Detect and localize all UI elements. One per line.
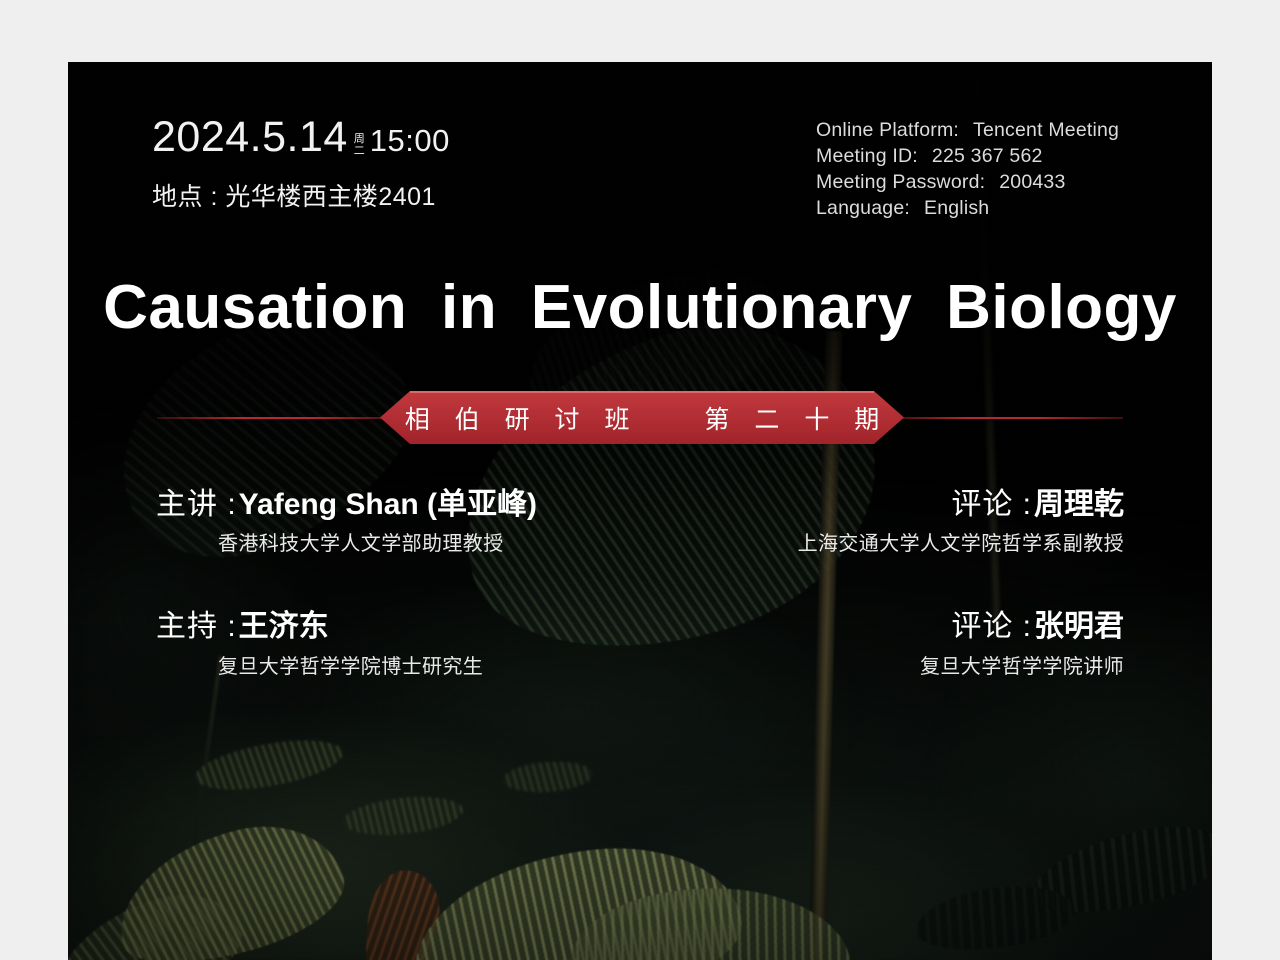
participant-role: 主持 : bbox=[156, 610, 237, 643]
participant-name: 周理乾 bbox=[1034, 488, 1124, 521]
seminar-series-ribbon: 相 伯 研 讨 班 第 二 十 期 bbox=[68, 391, 1212, 447]
participant-affiliation: 复旦大学哲学学院讲师 bbox=[920, 650, 1124, 679]
participant-affiliation: 上海交通大学人文学院哲学系副教授 bbox=[798, 527, 1124, 556]
event-weekday: 周 二 bbox=[354, 134, 365, 157]
participant-heading: 评论 :周理乾 bbox=[798, 487, 1124, 522]
meeting-language-row: Language:English bbox=[816, 196, 1119, 222]
meeting-language-value: English bbox=[924, 197, 989, 219]
meeting-id-row: Meeting ID:225 367 562 bbox=[816, 144, 1119, 170]
participant-role: 评论 : bbox=[951, 488, 1032, 521]
participant-role: 评论 : bbox=[951, 610, 1032, 643]
participant-discussant-2: 评论 :张明君 复旦大学哲学学院讲师 bbox=[920, 609, 1124, 678]
event-date: 2024.5.14 bbox=[152, 116, 348, 159]
participant-heading: 评论 :张明君 bbox=[920, 609, 1124, 644]
participants-row: 主持 :王济东 复旦大学哲学学院博士研究生 评论 :张明君 复旦大学哲学学院讲师 bbox=[68, 609, 1212, 678]
meeting-password-value: 200433 bbox=[999, 171, 1065, 193]
meeting-id-label: Meeting ID: bbox=[816, 145, 918, 167]
weekday-char-top: 周 bbox=[354, 134, 365, 146]
date-line: 2024.5.14 周 二 15:00 bbox=[152, 116, 450, 166]
participant-role: 主讲 : bbox=[156, 488, 237, 521]
seminar-series-name: 相 伯 研 讨 班 bbox=[405, 406, 639, 434]
participant-discussant-1: 评论 :周理乾 上海交通大学人文学院哲学系副教授 bbox=[798, 487, 1124, 556]
participants-section: 主讲 :Yafeng Shan (单亚峰) 香港科技大学人文学部助理教授 评论 … bbox=[68, 487, 1212, 679]
ribbon-rule-left bbox=[157, 417, 397, 419]
meeting-language-label: Language: bbox=[816, 197, 910, 219]
poster-title: Causation in Evolutionary Biology bbox=[68, 277, 1212, 339]
participant-heading: 主讲 :Yafeng Shan (单亚峰) bbox=[156, 487, 537, 522]
participant-name: 王济东 bbox=[239, 610, 329, 643]
participant-host: 主持 :王济东 复旦大学哲学学院博士研究生 bbox=[156, 609, 483, 678]
datetime-block: 2024.5.14 周 二 15:00 地点 : 光华楼西主楼2401 bbox=[152, 116, 450, 213]
meeting-id-value: 225 367 562 bbox=[932, 145, 1043, 167]
participant-name: 张明君 bbox=[1034, 610, 1124, 643]
participant-affiliation: 复旦大学哲学学院博士研究生 bbox=[218, 650, 483, 679]
event-poster: 2024.5.14 周 二 15:00 地点 : 光华楼西主楼2401 Onli… bbox=[68, 62, 1212, 960]
participant-affiliation: 香港科技大学人文学部助理教授 bbox=[218, 527, 537, 556]
participant-speaker: 主讲 :Yafeng Shan (单亚峰) 香港科技大学人文学部助理教授 bbox=[156, 487, 537, 556]
seminar-issue-number: 第 二 十 期 bbox=[704, 406, 888, 434]
ribbon-rule-right bbox=[883, 417, 1123, 419]
participant-name: Yafeng Shan (单亚峰) bbox=[239, 488, 537, 521]
participants-row: 主讲 :Yafeng Shan (单亚峰) 香港科技大学人文学部助理教授 评论 … bbox=[68, 487, 1212, 556]
meeting-password-label: Meeting Password: bbox=[816, 171, 985, 193]
meeting-info-block: Online Platform:Tencent Meeting Meeting … bbox=[816, 118, 1119, 222]
meeting-platform-value: Tencent Meeting bbox=[973, 119, 1119, 141]
meeting-platform-row: Online Platform:Tencent Meeting bbox=[816, 118, 1119, 144]
ribbon-hexagon: 相 伯 研 讨 班 第 二 十 期 bbox=[380, 391, 904, 444]
ribbon-text: 相 伯 研 讨 班 第 二 十 期 bbox=[396, 400, 889, 436]
meeting-password-row: Meeting Password:200433 bbox=[816, 170, 1119, 196]
weekday-char-bottom: 二 bbox=[354, 146, 365, 158]
meeting-platform-label: Online Platform: bbox=[816, 119, 959, 141]
event-time: 15:00 bbox=[370, 123, 450, 159]
event-venue: 地点 : 光华楼西主楼2401 bbox=[152, 177, 450, 213]
participant-heading: 主持 :王济东 bbox=[156, 609, 483, 644]
